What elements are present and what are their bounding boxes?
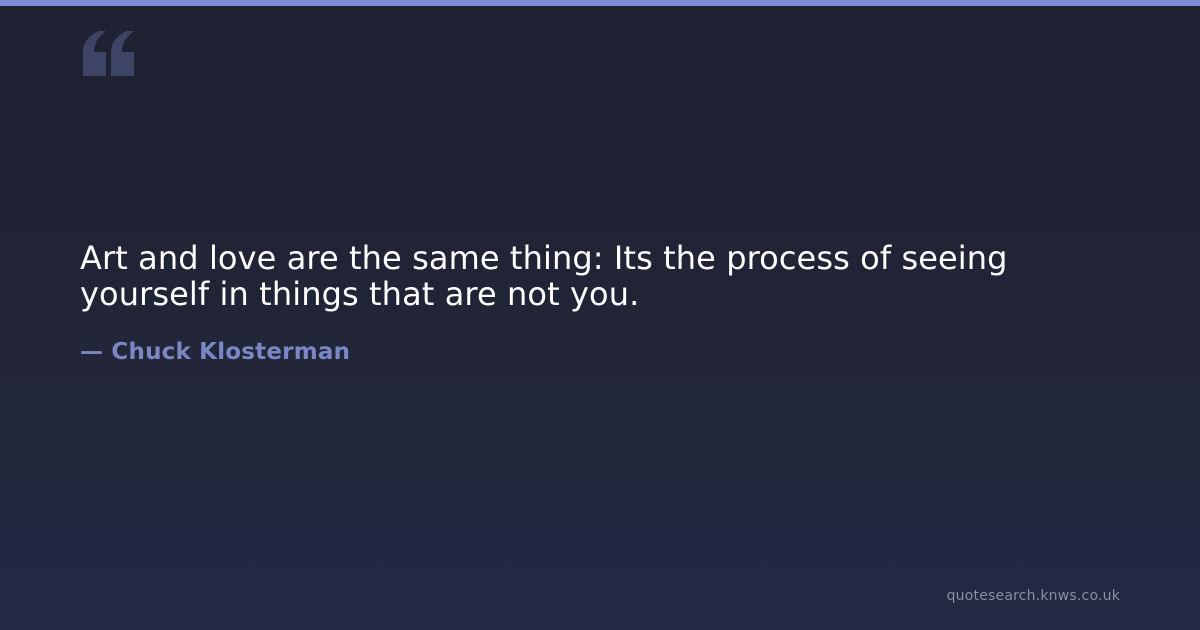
quote-card: Art and love are the same thing: Its the… xyxy=(0,0,1200,630)
quote-attribution: — Chuck Klosterman xyxy=(80,338,350,366)
attribution-dash: — xyxy=(80,339,103,365)
quotation-mark-icon xyxy=(80,30,140,86)
top-accent-bar xyxy=(0,0,1200,6)
author-name: Chuck Klosterman xyxy=(111,339,350,365)
site-watermark: quotesearch.knws.co.uk xyxy=(947,587,1120,605)
quote-text: Art and love are the same thing: Its the… xyxy=(80,240,1080,312)
quote-body: Art and love are the same thing: Its the… xyxy=(80,240,1080,312)
